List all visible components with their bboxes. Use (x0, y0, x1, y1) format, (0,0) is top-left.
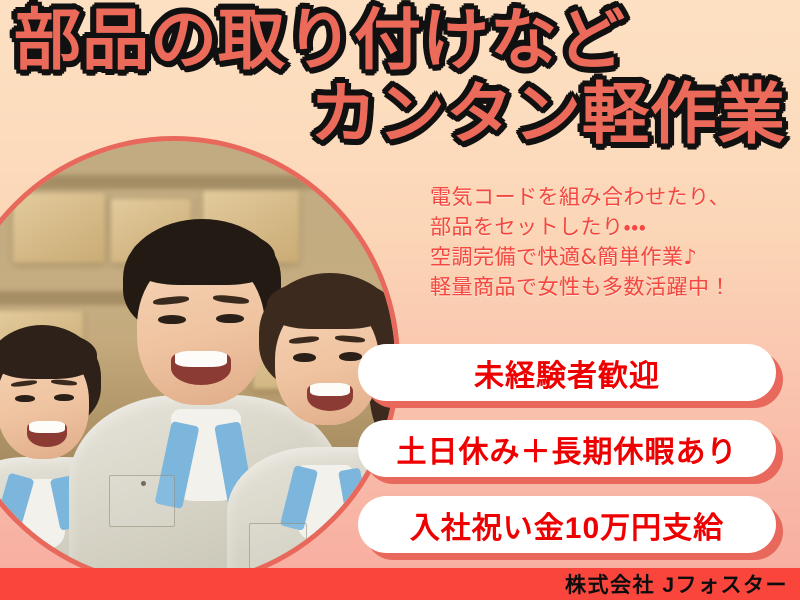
body-copy-line-1: 電気コードを組み合わせたり、 (430, 182, 790, 212)
feature-pill-label: 未経験者歓迎 (474, 351, 660, 395)
body-copy-line-3: 空調完備で快適&簡単作業♪ (430, 242, 790, 272)
feature-pill-label: 入社祝い金10万円支給 (410, 503, 724, 547)
hair-fringe (267, 279, 391, 329)
team-photo-circle (0, 136, 400, 588)
eye (293, 353, 316, 362)
smiling-mouth (171, 351, 231, 385)
teeth (29, 421, 64, 433)
body-copy-line-2: 部品をセットしたり・・・ (430, 212, 790, 242)
headline: 部品の取り付けなど カンタン軽作業 (0, 4, 800, 152)
feature-pill-holidays: 土日休み＋長期休暇あり (358, 420, 776, 477)
teeth (310, 383, 350, 396)
eye (339, 352, 362, 361)
footer-bar: 株式会社 Jフォスター (0, 568, 800, 600)
team-photo (0, 141, 395, 583)
jacket-pocket (0, 525, 23, 571)
eye (216, 314, 244, 323)
feature-pill-no-experience: 未経験者歓迎 (358, 344, 776, 401)
body-copy: 電気コードを組み合わせたり、 部品をセットしたり・・・ 空調完備で快適&簡単作業… (430, 182, 790, 302)
eye (158, 315, 186, 324)
feature-pill-signing-bonus: 入社祝い金10万円支給 (358, 496, 776, 553)
smiling-mouth (27, 421, 67, 447)
teeth (175, 351, 228, 367)
eye (54, 394, 74, 401)
headline-line-1: 部品の取り付けなど (14, 4, 786, 78)
feature-pill-label: 土日休み＋長期休暇あり (397, 427, 738, 471)
hair-fringe (131, 227, 275, 285)
cardboard-box (13, 193, 105, 263)
body-copy-line-4: 軽量商品で女性も多数活躍中！ (430, 272, 790, 302)
company-name: 株式会社 Jフォスター (565, 569, 788, 599)
job-ad-banner: 部品の取り付けなど カンタン軽作業 電気コードを組み合わせたり、 部品をセットし… (0, 0, 800, 600)
jacket-button (141, 481, 146, 486)
shelf-beam (0, 175, 323, 189)
hair-fringe (0, 331, 97, 379)
jacket-pocket (249, 523, 307, 569)
smiling-mouth (307, 383, 353, 411)
eye (15, 395, 35, 402)
